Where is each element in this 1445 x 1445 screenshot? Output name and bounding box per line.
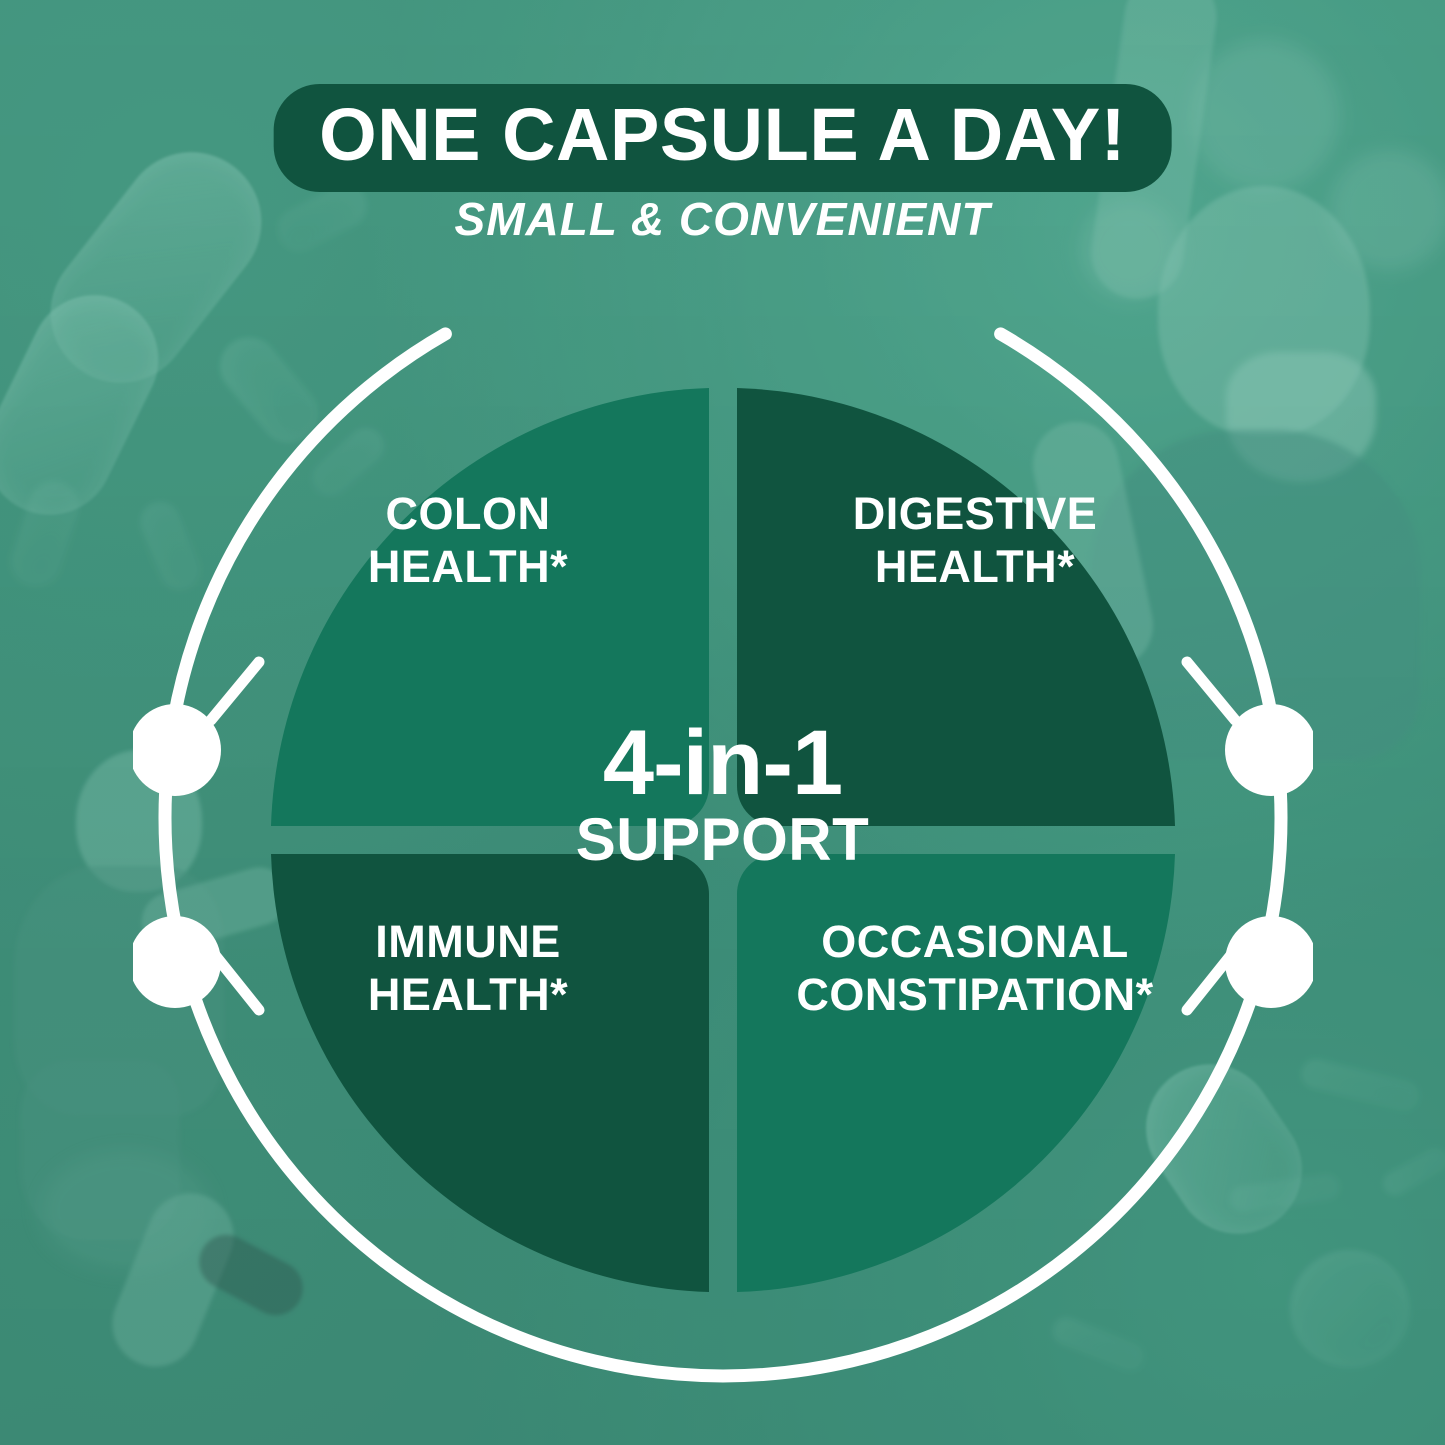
quadrant-label-constipation: OCCASIONAL CONSTIPATION* xyxy=(735,915,1215,1021)
marker-dot-right-bottom xyxy=(1225,916,1313,1008)
connector-right-top xyxy=(1187,662,1235,720)
quadrant-colon xyxy=(271,388,709,826)
quadrant-digestive xyxy=(737,388,1175,826)
headline-badge: ONE CAPSULE A DAY! xyxy=(273,84,1172,192)
quadrant-label-colon: COLON HEALTH* xyxy=(258,487,678,593)
headline-text: ONE CAPSULE A DAY! xyxy=(319,98,1126,172)
quadrant-label-digestive: DIGESTIVE HEALTH* xyxy=(760,487,1190,593)
marker-dot-left-top xyxy=(133,704,221,796)
quadrant-label-immune: IMMUNE HEALTH* xyxy=(258,915,678,1021)
marker-dot-left-bottom xyxy=(133,916,221,1008)
connector-left-top xyxy=(211,662,259,720)
marker-dot-right-top xyxy=(1225,704,1313,796)
four-in-one-wheel xyxy=(133,250,1313,1430)
infographic-canvas: ONE CAPSULE A DAY! SMALL & CONVENIENT xyxy=(0,0,1445,1445)
subtitle-text: SMALL & CONVENIENT xyxy=(455,192,991,246)
